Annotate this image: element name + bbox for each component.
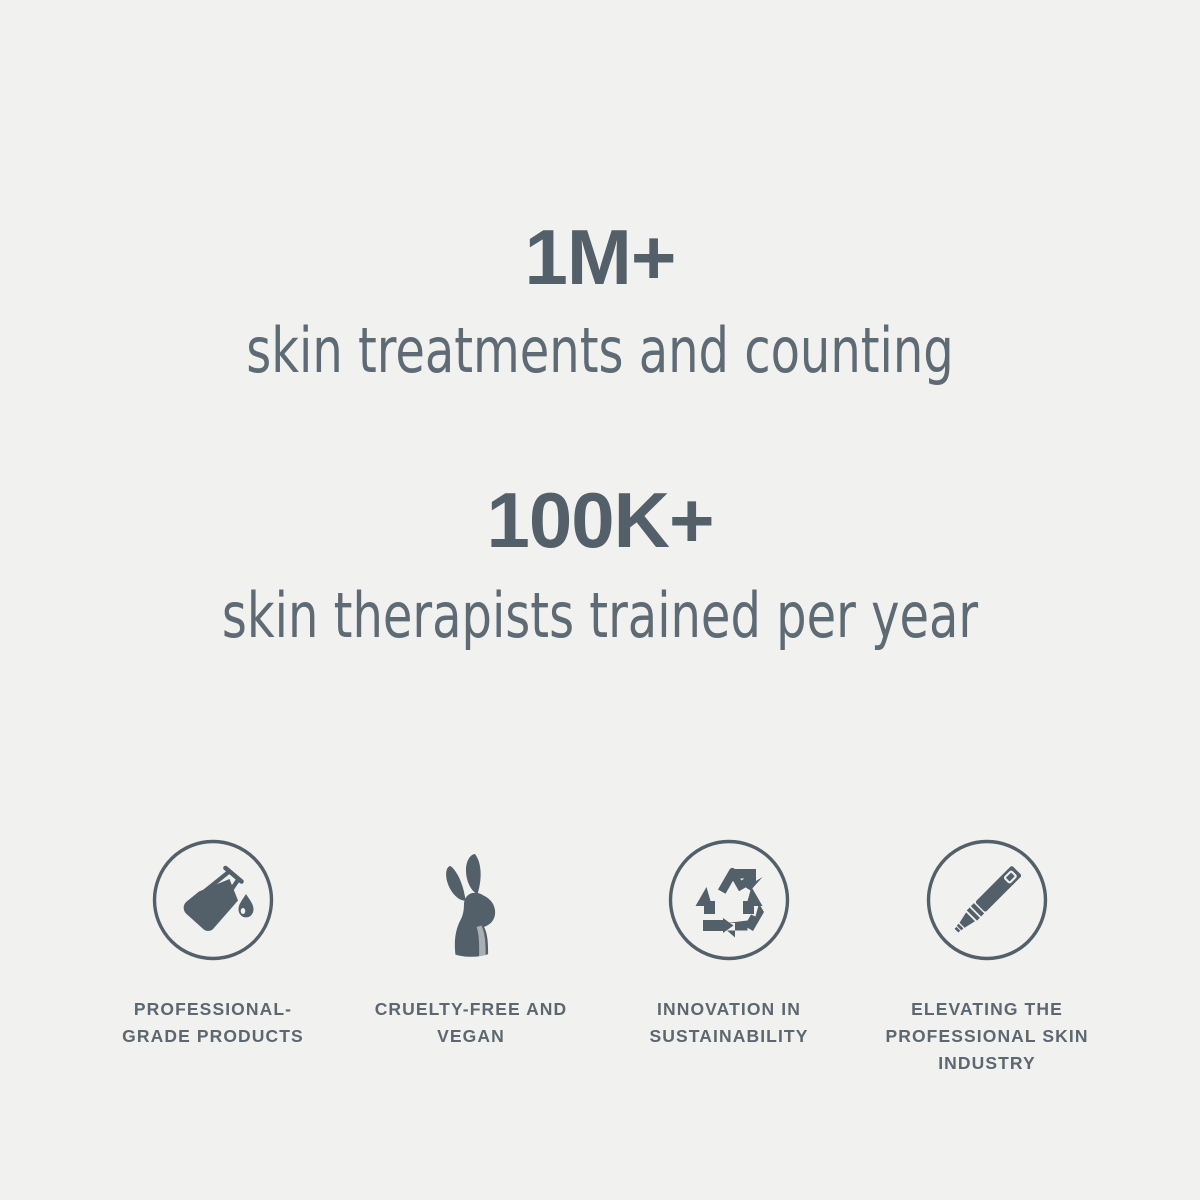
recycle-icon (661, 832, 797, 968)
rabbit-badge (403, 832, 539, 968)
stat-group-therapists: 100K+ skin therapists trained per year (0, 481, 1200, 648)
feature-cruelty-free-and-vegan: CRUELTY-FREE AND VEGAN (342, 832, 600, 1050)
feature-innovation-in-sustainability: INNOVATION IN SUSTAINABILITY (600, 832, 858, 1050)
feature-label-professional-grade-products: PROFESSIONAL-GRADE PRODUCTS (111, 996, 316, 1050)
feature-badges-row: PROFESSIONAL-GRADE PRODUCTS (0, 832, 1200, 1077)
feature-elevating-professional-skin-industry: ELEVATING THE PROFESSIONAL SKIN INDUSTRY (858, 832, 1116, 1077)
rabbit-icon (403, 832, 539, 968)
stat-group-treatments: 1M+ skin treatments and counting (0, 218, 1200, 383)
brand-stats-panel: 1M+ skin treatments and counting 100K+ s… (0, 0, 1200, 1200)
feature-professional-grade-products: PROFESSIONAL-GRADE PRODUCTS (84, 832, 342, 1050)
feature-label-elevating-professional-skin-industry: ELEVATING THE PROFESSIONAL SKIN INDUSTRY (862, 996, 1112, 1077)
flask-icon (145, 832, 281, 968)
stat-value-treatments: 1M+ (0, 218, 1200, 296)
feature-label-innovation-in-sustainability: INNOVATION IN SUSTAINABILITY (613, 996, 845, 1050)
flask-badge (145, 832, 281, 968)
pen-badge (919, 832, 1055, 968)
feature-label-cruelty-free-and-vegan: CRUELTY-FREE AND VEGAN (369, 996, 574, 1050)
stat-value-therapists: 100K+ (0, 481, 1200, 559)
stats-block: 1M+ skin treatments and counting 100K+ s… (0, 0, 1200, 648)
pen-icon (919, 832, 1055, 968)
recycle-badge (661, 832, 797, 968)
stat-caption-treatments: skin treatments and counting (84, 318, 1116, 383)
stat-caption-therapists: skin therapists trained per year (84, 583, 1116, 648)
